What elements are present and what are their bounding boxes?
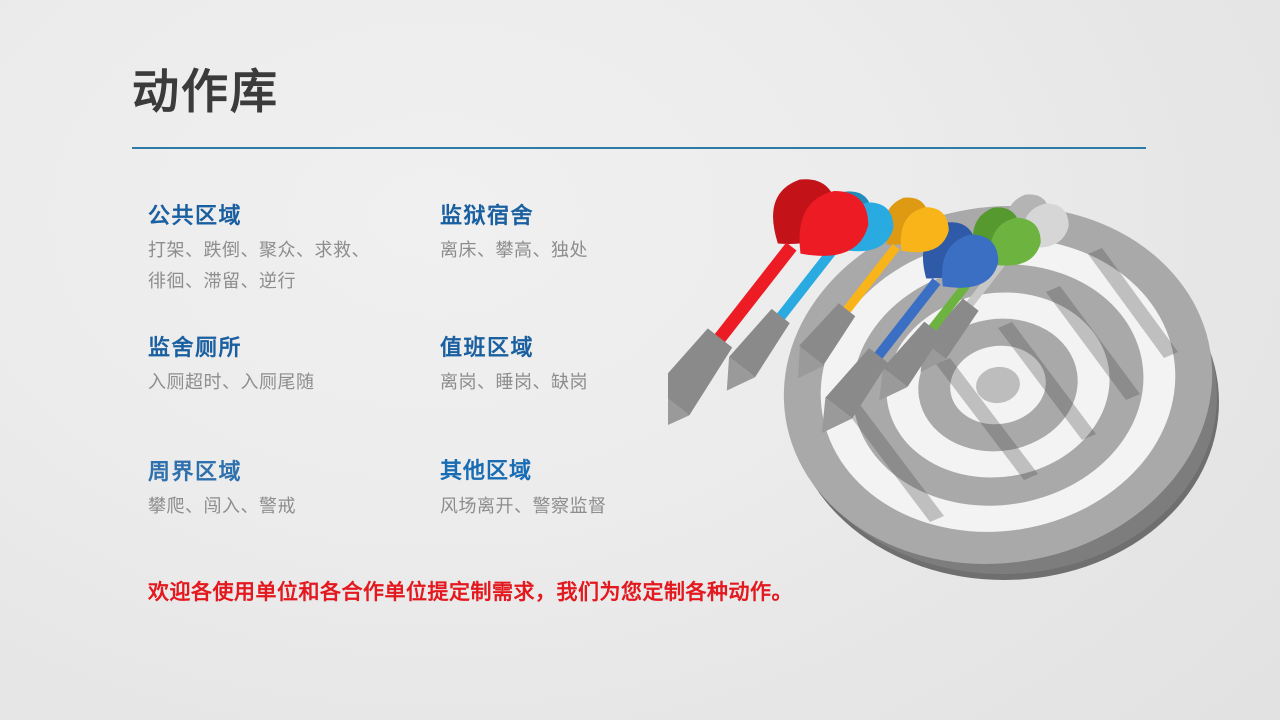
entry-perimeter-area: 周界区域 攀爬、闯入、警戒 xyxy=(148,459,296,523)
entry-body-line: 离岗、睡岗、缺岗 xyxy=(440,368,588,399)
entry-prison-dorm: 监狱宿舍 离床、攀高、独处 xyxy=(440,203,588,267)
entry-heading: 公共区域 xyxy=(148,203,370,229)
entry-heading: 值班区域 xyxy=(440,335,588,361)
entry-body: 风场离开、警察监督 xyxy=(440,492,607,523)
entry-body-line: 入厕超时、入厕尾随 xyxy=(148,368,315,399)
entry-other-area: 其他区域 风场离开、警察监督 xyxy=(440,459,607,523)
entry-body: 离床、攀高、独处 xyxy=(440,236,588,267)
entry-body: 入厕超时、入厕尾随 xyxy=(148,368,315,399)
entry-body: 攀爬、闯入、警戒 xyxy=(148,492,296,523)
entry-body: 离岗、睡岗、缺岗 xyxy=(440,368,588,399)
entry-body-line: 攀爬、闯入、警戒 xyxy=(148,492,296,523)
content-area: 公共区域 打架、跌倒、聚众、求救、 徘徊、滞留、逆行 监舍厕所 入厕超时、入厕尾… xyxy=(0,0,1280,720)
entry-cell-toilet: 监舍厕所 入厕超时、入厕尾随 xyxy=(148,335,315,399)
entry-public-area: 公共区域 打架、跌倒、聚众、求救、 徘徊、滞留、逆行 xyxy=(148,203,370,298)
entry-heading: 周界区域 xyxy=(148,459,296,485)
entry-body-line: 徘徊、滞留、逆行 xyxy=(148,267,370,298)
entry-body-line: 打架、跌倒、聚众、求救、 xyxy=(148,236,370,267)
entry-heading: 其他区域 xyxy=(440,459,607,485)
entry-heading: 监狱宿舍 xyxy=(440,203,588,229)
entry-body: 打架、跌倒、聚众、求救、 徘徊、滞留、逆行 xyxy=(148,236,370,298)
entry-body-line: 离床、攀高、独处 xyxy=(440,236,588,267)
footer-note: 欢迎各使用单位和各合作单位提定制需求，我们为您定制各种动作。 xyxy=(148,576,793,606)
entry-heading: 监舍厕所 xyxy=(148,335,315,361)
entry-body-line: 风场离开、警察监督 xyxy=(440,492,607,523)
slide-canvas: 动作库 公共区域 打架、跌倒、聚众、求救、 徘徊、滞留、逆行 监舍厕所 入厕超时… xyxy=(0,0,1280,720)
entry-duty-area: 值班区域 离岗、睡岗、缺岗 xyxy=(440,335,588,399)
